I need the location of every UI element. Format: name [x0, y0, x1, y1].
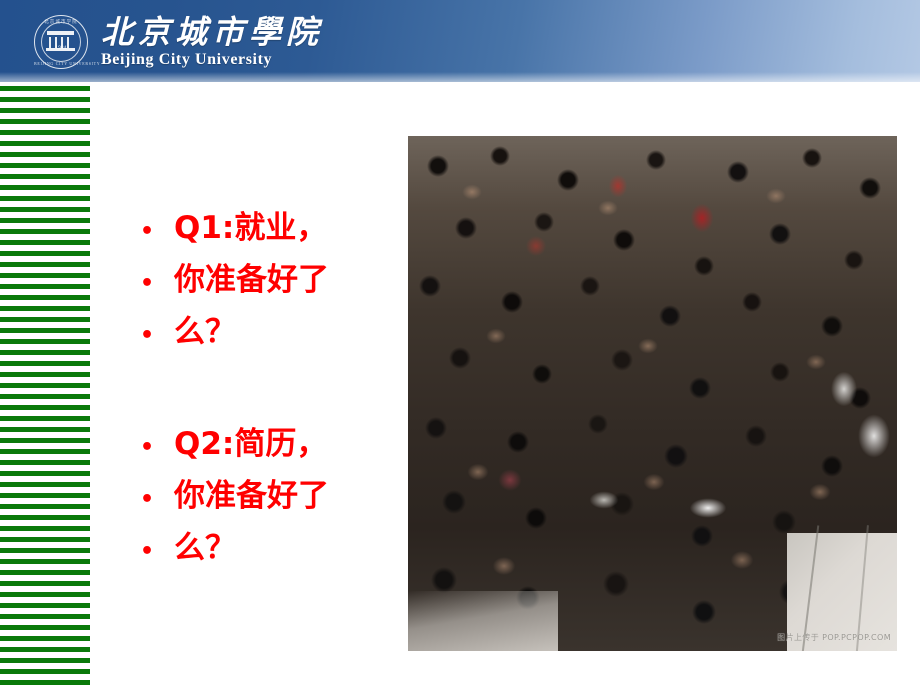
seal-year-text: 1984: [34, 46, 88, 51]
seal-arc-top-text: 北京城市学院: [34, 19, 88, 25]
slide-header-band: 北京城市学院 1984 BEIJING CITY UNIVERSITY 北京城市…: [0, 0, 920, 82]
brand-name-english: Beijing City University: [101, 52, 323, 68]
university-brand-lockup: 北京城市学院 1984 BEIJING CITY UNIVERSITY 北京城市…: [34, 13, 323, 71]
bullet-point-icon: •: [140, 260, 174, 308]
seal-emblem-roof: [47, 31, 74, 35]
seal-arc-bottom-text: BEIJING CITY UNIVERSITY: [34, 61, 88, 66]
green-stripe-decoration: [0, 86, 90, 690]
bullet-point-icon: •: [140, 476, 174, 524]
bullet-point-icon: •: [140, 424, 174, 472]
presentation-slide: 北京城市学院 1984 BEIJING CITY UNIVERSITY 北京城市…: [0, 0, 920, 690]
photo-foreground-board: [408, 591, 558, 651]
university-seal-icon: 北京城市学院 1984 BEIJING CITY UNIVERSITY: [34, 15, 88, 69]
crowd-photo-frame: 图片上传于 POP.PCPOP.COM: [408, 136, 897, 651]
bullet-point-icon: •: [140, 208, 174, 256]
header-bottom-sheen: [0, 72, 920, 82]
bullet-point-icon: •: [140, 528, 174, 576]
photo-watermark-text: 图片上传于 POP.PCPOP.COM: [777, 632, 891, 643]
bullet-point-icon: •: [140, 312, 174, 360]
brand-text-group: 北京城市學院 Beijing City University: [101, 16, 323, 68]
brand-name-chinese: 北京城市學院: [101, 16, 323, 48]
